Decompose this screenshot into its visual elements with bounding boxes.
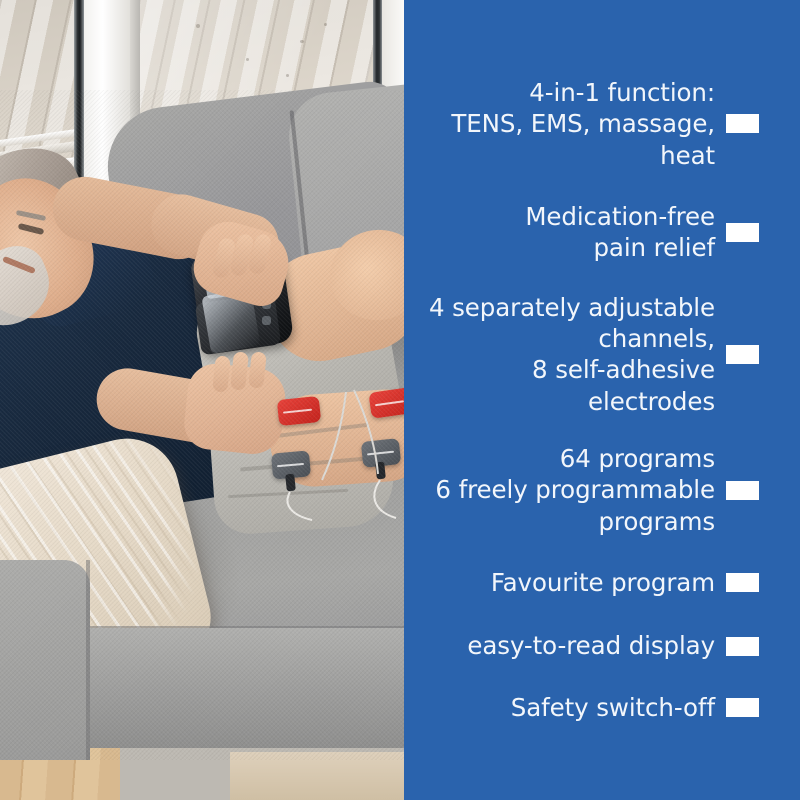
feature-list: 4-in-1 function: TENS, EMS, massage, hea… xyxy=(404,77,800,723)
feature-marker xyxy=(726,573,759,592)
feature-item-programs: 64 programs 6 freely programmable progra… xyxy=(404,443,800,537)
feature-text: Favourite program xyxy=(491,567,715,598)
spacer xyxy=(404,171,800,201)
sofa-arm-panel xyxy=(0,560,90,760)
spacer xyxy=(404,537,800,567)
feature-marker xyxy=(726,114,759,133)
deck-speck xyxy=(286,74,289,77)
feature-marker xyxy=(726,345,759,364)
feature-text: 4 separately adjustable channels, 8 self… xyxy=(429,292,715,417)
feature-text: Medication-free pain relief xyxy=(525,201,715,264)
product-feature-graphic: 4-in-1 function: TENS, EMS, massage, hea… xyxy=(0,0,800,800)
spacer xyxy=(404,417,800,443)
feature-marker xyxy=(726,223,759,242)
deck-speck xyxy=(300,40,304,43)
feature-marker xyxy=(726,698,759,717)
deck-speck xyxy=(196,24,200,28)
feature-item-channels-and-electrodes: 4 separately adjustable channels, 8 self… xyxy=(404,292,800,417)
feature-item-medication-free-pain-relief: Medication-free pain relief xyxy=(404,201,800,264)
sofa-arm-seam xyxy=(86,560,90,760)
feature-item-four-in-one-function: 4-in-1 function: TENS, EMS, massage, hea… xyxy=(404,77,800,171)
tens-device-button xyxy=(262,316,271,325)
feature-text: Safety switch-off xyxy=(511,692,715,723)
feature-marker xyxy=(726,481,759,500)
feature-item-favourite-program: Favourite program xyxy=(404,567,800,598)
feature-text: 64 programs 6 freely programmable progra… xyxy=(435,443,715,537)
feature-item-safety-switch-off: Safety switch-off xyxy=(404,692,800,723)
feature-marker xyxy=(726,637,759,656)
spacer xyxy=(404,598,800,630)
lifestyle-photo xyxy=(0,0,404,800)
electrode-wires xyxy=(250,330,404,530)
feature-panel: 4-in-1 function: TENS, EMS, massage, hea… xyxy=(404,0,800,800)
beige-rug xyxy=(230,752,404,800)
spacer xyxy=(404,662,800,692)
spacer xyxy=(404,264,800,292)
feature-text: 4-in-1 function: TENS, EMS, massage, hea… xyxy=(451,77,715,171)
feature-text: easy-to-read display xyxy=(467,630,715,661)
window-mullion-dark-left xyxy=(74,0,84,188)
deck-speck xyxy=(324,23,327,26)
deck-speck xyxy=(246,58,249,61)
feature-item-easy-to-read-display: easy-to-read display xyxy=(404,630,800,661)
